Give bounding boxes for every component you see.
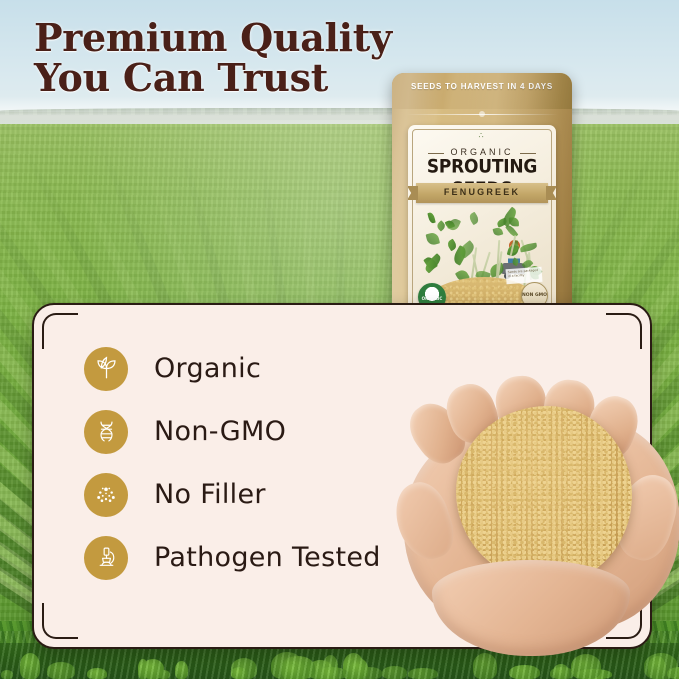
page-title: Premium Quality You Can Trust — [34, 18, 454, 99]
corner-bracket-top-right — [606, 313, 642, 349]
headline-line-1: Premium Quality — [34, 18, 454, 58]
grass-tuft — [281, 656, 315, 679]
grass-tuft — [348, 658, 369, 679]
corner-bracket-bottom-left — [42, 603, 78, 639]
particles-dots-icon — [84, 473, 128, 517]
grass-tuft — [87, 668, 107, 679]
cupped-palm-base — [432, 560, 630, 656]
label-flourish: ∴ — [408, 131, 556, 140]
sprout-leaf-shape — [423, 254, 443, 274]
grass-tuft — [356, 667, 383, 679]
grass-tuft — [142, 659, 164, 679]
feature-label: Organic — [154, 353, 261, 384]
sprout-leaf-shape — [427, 212, 435, 224]
label-variety: FENUGREEK — [408, 187, 556, 197]
feature-label: Pathogen Tested — [154, 542, 381, 573]
dna-helix-icon — [84, 410, 128, 454]
grass-tuft — [271, 652, 303, 679]
sprout-leaf-shape — [426, 231, 440, 245]
grass-tuft — [231, 667, 248, 679]
feature-label: Non-GMO — [154, 416, 286, 447]
package-label: ∴ ORGANIC SPROUTING SEEDS FENUGREEK Seed… — [408, 125, 556, 333]
grass-tuft — [231, 658, 257, 679]
grass-tuft — [1, 670, 14, 679]
grass-tuft — [323, 655, 339, 679]
usda-seal-text: USDA ORGANIC — [419, 293, 445, 302]
grass-tuft — [158, 670, 170, 679]
feature-label: No Filler — [154, 479, 266, 510]
microscope-icon — [84, 536, 128, 580]
sprout-leaf-shape — [468, 212, 480, 225]
sprout-leaf-shape — [447, 217, 461, 232]
sprout-leaf-icon — [84, 347, 128, 391]
grass-tuft — [47, 662, 75, 679]
grass-tuft — [308, 660, 333, 679]
grass-tuft — [315, 667, 348, 679]
grass-tuft — [90, 670, 107, 679]
non-gmo-seal-text: NON GMO — [522, 293, 547, 298]
hands-with-seeds-photo — [404, 378, 679, 670]
grass-tuft — [138, 659, 149, 679]
grass-tuft — [281, 658, 307, 679]
grass-tuft — [175, 661, 188, 679]
grass-tuft — [576, 669, 611, 679]
sprout-leaf-shape — [492, 226, 503, 236]
grass-tuft — [343, 653, 364, 679]
grass-tuft — [343, 658, 355, 679]
corner-bracket-top-left — [42, 313, 78, 349]
grass-tuft — [286, 663, 298, 679]
grass-tuft — [20, 653, 41, 679]
product-infographic: Premium Quality You Can Trust SEEDS TO H… — [0, 0, 679, 679]
headline-line-2: You Can Trust — [34, 58, 454, 98]
grass-tuft — [282, 660, 294, 679]
